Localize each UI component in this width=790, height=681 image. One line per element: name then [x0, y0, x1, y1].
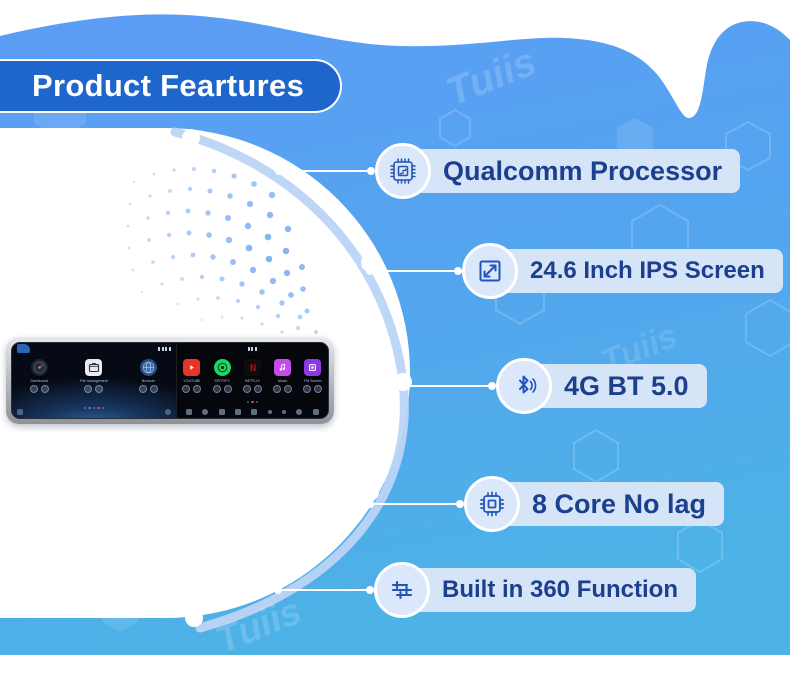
feature-label: Built in 360 Function	[442, 576, 678, 604]
app-controls[interactable]	[30, 385, 49, 393]
connector-dot-start	[274, 586, 282, 594]
left-corner-icon[interactable]	[17, 409, 23, 415]
connector-line	[398, 381, 496, 391]
feature-row-360-function: Built in 360 Function	[274, 562, 696, 618]
nav-volume-up-icon[interactable]	[282, 410, 286, 414]
app-item[interactable]: FM Screen	[298, 359, 328, 393]
app-item[interactable]: File management	[72, 359, 116, 393]
connector-dot-end	[366, 586, 374, 594]
right-status-icons	[248, 347, 257, 351]
nav-back-icon[interactable]	[186, 409, 192, 415]
globe-browser-icon	[140, 359, 157, 376]
feature-label-plate: 8 Core No lag	[502, 482, 724, 526]
screen-diagonal-icon	[462, 243, 518, 299]
connector-line	[366, 499, 464, 509]
app-label: NETFLIX	[245, 379, 260, 383]
feature-badge[interactable]: Qualcomm Processor	[375, 143, 740, 199]
app-controls[interactable]	[182, 385, 201, 393]
device-nav-bar[interactable]	[177, 405, 328, 418]
app-label: SPOTIFY	[215, 379, 230, 383]
car-infotainment-device: Dashboard File management	[6, 337, 334, 424]
connector-dot-start	[366, 267, 374, 275]
sliders-settings-icon	[374, 562, 430, 618]
app-controls[interactable]	[84, 385, 103, 393]
connector-segment	[374, 503, 456, 505]
right-page-indicator[interactable]	[177, 401, 328, 404]
status-indicator-icons	[158, 347, 171, 351]
nav-volume-down-icon[interactable]	[268, 410, 272, 414]
nav-music-icon[interactable]	[219, 409, 225, 415]
feature-badge[interactable]: Built in 360 Function	[374, 562, 696, 618]
connector-dot-start	[366, 500, 374, 508]
left-app-row: Dashboard File management	[12, 359, 176, 393]
connector-dot-end	[454, 267, 462, 275]
right-status-bar	[177, 343, 328, 354]
connector-segment	[406, 385, 488, 387]
feature-row-qualcomm-processor: Qualcomm Processor	[275, 143, 740, 199]
feature-label-plate: Qualcomm Processor	[413, 149, 740, 193]
left-page-indicator[interactable]	[12, 407, 176, 410]
home-icon[interactable]	[17, 344, 30, 353]
page-title: Product Feartures	[32, 68, 304, 104]
product-features-poster: Product Feartures	[0, 0, 790, 681]
app-label: File management	[80, 379, 108, 383]
file-folder-icon	[85, 359, 102, 376]
app-item[interactable]: Browser	[126, 359, 170, 393]
feature-badge[interactable]: 8 Core No lag	[464, 476, 724, 532]
connector-dot-start	[275, 167, 283, 175]
feature-label: 8 Core No lag	[532, 489, 706, 520]
spotify-icon	[214, 359, 231, 376]
feature-badge[interactable]: 24.6 Inch IPS Screen	[462, 243, 783, 299]
feature-label-plate: Built in 360 Function	[412, 568, 696, 612]
dashboard-gauge-icon	[31, 359, 48, 376]
feature-badge[interactable]: 4G BT 5.0	[496, 358, 707, 414]
feature-label: 4G BT 5.0	[564, 371, 689, 402]
nav-grid-icon[interactable]	[251, 409, 257, 415]
app-controls[interactable]	[273, 385, 292, 393]
app-item[interactable]: Dashboard	[17, 359, 61, 393]
connector-dot-start	[398, 382, 406, 390]
connector-line	[274, 585, 374, 595]
music-note-icon	[274, 359, 291, 376]
app-controls[interactable]	[243, 385, 262, 393]
app-controls[interactable]	[213, 385, 232, 393]
connector-dot-end	[488, 382, 496, 390]
connector-dot-end	[367, 167, 375, 175]
feature-label: Qualcomm Processor	[443, 156, 722, 187]
nav-settings-icon[interactable]	[313, 409, 319, 415]
right-app-row: YOUTUBE SPOTIFY	[177, 359, 328, 393]
device-left-panel: Dashboard File management	[12, 343, 177, 418]
app-label: YOUTUBE	[183, 379, 200, 383]
feature-row-ips-screen: 24.6 Inch IPS Screen	[366, 243, 783, 299]
feature-label-plate: 4G BT 5.0	[534, 364, 707, 408]
right-corner-icon[interactable]	[165, 409, 171, 415]
nav-power-icon[interactable]	[296, 409, 302, 415]
app-item[interactable]: SPOTIFY	[207, 359, 237, 393]
connector-segment	[282, 589, 366, 591]
app-label: FM Screen	[304, 379, 321, 383]
connector-line	[275, 166, 375, 176]
device-right-panel: YOUTUBE SPOTIFY	[177, 343, 328, 418]
cpu-chip-icon	[375, 143, 431, 199]
app-label: Dashboard	[31, 379, 49, 383]
app-label: Browser	[142, 379, 155, 383]
app-controls[interactable]	[303, 385, 322, 393]
connector-segment	[283, 170, 367, 172]
page-title-bar: Product Feartures	[0, 59, 342, 113]
app-controls[interactable]	[139, 385, 158, 393]
app-item[interactable]: YOUTUBE	[177, 359, 207, 393]
device-screen: Dashboard File management	[11, 342, 329, 419]
feature-row-eight-core: 8 Core No lag	[366, 476, 724, 532]
app-label: Music	[278, 379, 287, 383]
fm-screen-icon	[304, 359, 321, 376]
left-status-bar	[12, 343, 176, 354]
bluetooth-signal-icon	[496, 358, 552, 414]
connector-line	[366, 266, 462, 276]
app-item[interactable]: Music	[268, 359, 298, 393]
feature-label: 24.6 Inch IPS Screen	[530, 257, 765, 285]
netflix-icon	[244, 359, 261, 376]
nav-home-icon[interactable]	[202, 409, 208, 415]
nav-apps-icon[interactable]	[235, 409, 241, 415]
processor-core-icon	[464, 476, 520, 532]
youtube-icon	[183, 359, 200, 376]
connector-dot-end	[456, 500, 464, 508]
feature-row-bluetooth: 4G BT 5.0	[398, 358, 707, 414]
feature-label-plate: 24.6 Inch IPS Screen	[500, 249, 783, 293]
connector-segment	[374, 270, 454, 272]
app-item[interactable]: NETFLIX	[237, 359, 267, 393]
